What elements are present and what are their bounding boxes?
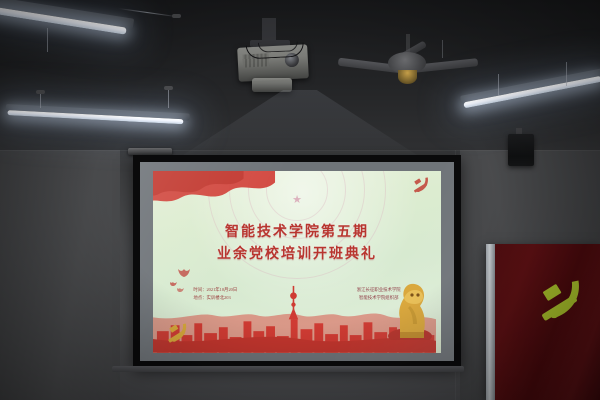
slide-title-line-1: 智能技术学院第五期 <box>153 222 441 244</box>
flag-pole-strip <box>486 244 495 400</box>
screen-roller-casing[interactable] <box>128 148 172 155</box>
star-icon: ★ <box>292 195 302 206</box>
screen-bottom-weight-bar <box>112 366 464 372</box>
wall-panel-left <box>0 150 120 400</box>
light-hanger-rod <box>40 92 41 108</box>
hammer-and-sickle-icon <box>526 270 594 336</box>
fan-light-fixture <box>398 70 417 84</box>
projector-lower-shell <box>252 78 292 92</box>
cpc-party-flag <box>486 244 600 400</box>
ceiling-anchor <box>172 14 181 18</box>
red-flag-ribbon-icon <box>153 171 277 217</box>
slide-title-block: 智能技术学院第五期 业余党校培训开班典礼 <box>153 222 441 265</box>
presentation-slide: ★ 智能技术学院第五期 业余党校培训开班典礼 <box>153 171 441 353</box>
light-hanger-rod <box>168 88 169 108</box>
light-hanger-rod <box>566 62 567 86</box>
slide-title-line-2: 业余党校培训开班典礼 <box>153 244 441 266</box>
projection-screen-frame: ★ 智能技术学院第五期 业余党校培训开班典礼 <box>133 155 461 368</box>
classroom-scene: ★ 智能技术学院第五期 业余党校培训开班典礼 <box>0 0 600 400</box>
ceiling-anchor <box>164 86 173 90</box>
fan-support-wire <box>442 40 443 58</box>
ceiling-anchor <box>36 90 45 94</box>
light-hanger-rod <box>47 28 48 52</box>
wall-speaker <box>508 134 534 166</box>
hammer-sickle-emblem-icon <box>408 174 434 198</box>
golden-lion-statue-icon <box>386 272 432 340</box>
light-hanger-rod <box>498 74 499 96</box>
